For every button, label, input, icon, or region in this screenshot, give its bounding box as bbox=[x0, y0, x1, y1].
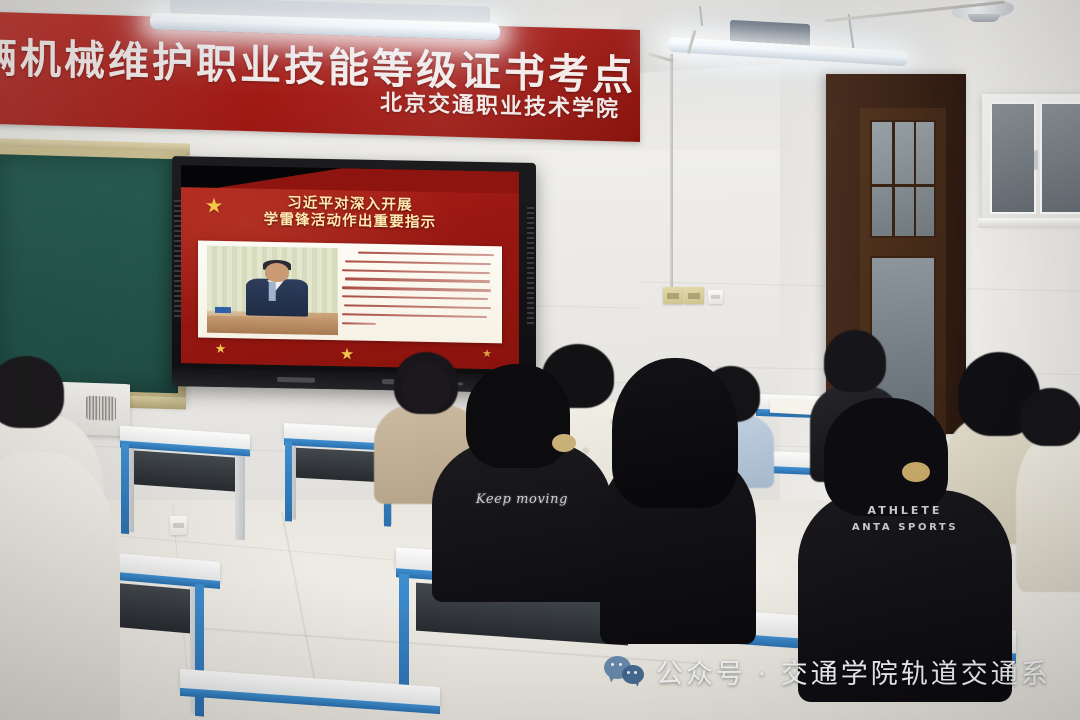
photo-figure-tie bbox=[269, 282, 276, 301]
jacket-brand-line-2: ANTA SPORTS bbox=[798, 522, 1012, 533]
wall-outlet[interactable] bbox=[663, 287, 683, 304]
student-long-hair-center bbox=[596, 358, 756, 638]
slide: ★ ★ ★ ★ 习近平对深入开展 学雷锋活动作出重要指示 bbox=[181, 165, 519, 369]
window-handle[interactable] bbox=[1034, 150, 1038, 170]
screen-panel[interactable]: ★ ★ ★ ★ 习近平对深入开展 学雷锋活动作出重要指示 bbox=[181, 165, 519, 369]
photo-watermark-badge bbox=[215, 307, 231, 313]
slide-content-card bbox=[198, 241, 502, 344]
window-pane-left bbox=[990, 102, 1036, 214]
window-sill bbox=[978, 218, 1080, 228]
wall-outlet[interactable] bbox=[684, 287, 704, 304]
student-front-left-white-coat bbox=[0, 452, 120, 720]
door-glass-upper bbox=[870, 120, 936, 238]
student-keep-moving-jacket: Keep moving bbox=[432, 368, 612, 598]
star-icon: ★ bbox=[482, 348, 492, 359]
star-icon: ★ bbox=[340, 346, 354, 362]
wechat-icon bbox=[604, 656, 644, 688]
star-icon: ★ bbox=[215, 343, 227, 356]
window-pane-right bbox=[1040, 102, 1080, 214]
slide-photo bbox=[207, 246, 338, 336]
speaker-grill-icon bbox=[174, 200, 181, 320]
screen-brand-mark bbox=[277, 377, 315, 383]
slide-article-text bbox=[342, 247, 494, 339]
wechat-bubble-small bbox=[622, 665, 644, 684]
student-far-right-cream bbox=[1016, 388, 1080, 588]
slide-title: 习近平对深入开展 学雷锋活动作出重要指示 bbox=[181, 193, 519, 234]
wall-conduit bbox=[670, 54, 673, 304]
wall-switch-small[interactable] bbox=[708, 290, 723, 304]
jacket-script-text: Keep moving bbox=[432, 492, 612, 507]
speaker-grill-icon bbox=[527, 207, 534, 327]
wechat-watermark: 公众号 · 交通学院轨道交通系 bbox=[604, 652, 1051, 691]
jacket-brand-line-1: ATHLETE bbox=[798, 504, 1012, 517]
watermark-text: 公众号 · 交通学院轨道交通系 bbox=[656, 652, 1051, 691]
door-mullion bbox=[914, 122, 916, 236]
door-mullion bbox=[892, 122, 895, 236]
photo-desk bbox=[207, 316, 338, 336]
photo-figure-head bbox=[265, 263, 290, 283]
classroom-photo: 辆机械维护职业技能等级证书考点 北京交通职业技术学院 ★ ★ ★ bbox=[0, 0, 1080, 720]
desk[interactable] bbox=[120, 425, 250, 544]
door-mullion bbox=[872, 184, 934, 187]
classroom-window[interactable] bbox=[982, 94, 1080, 222]
